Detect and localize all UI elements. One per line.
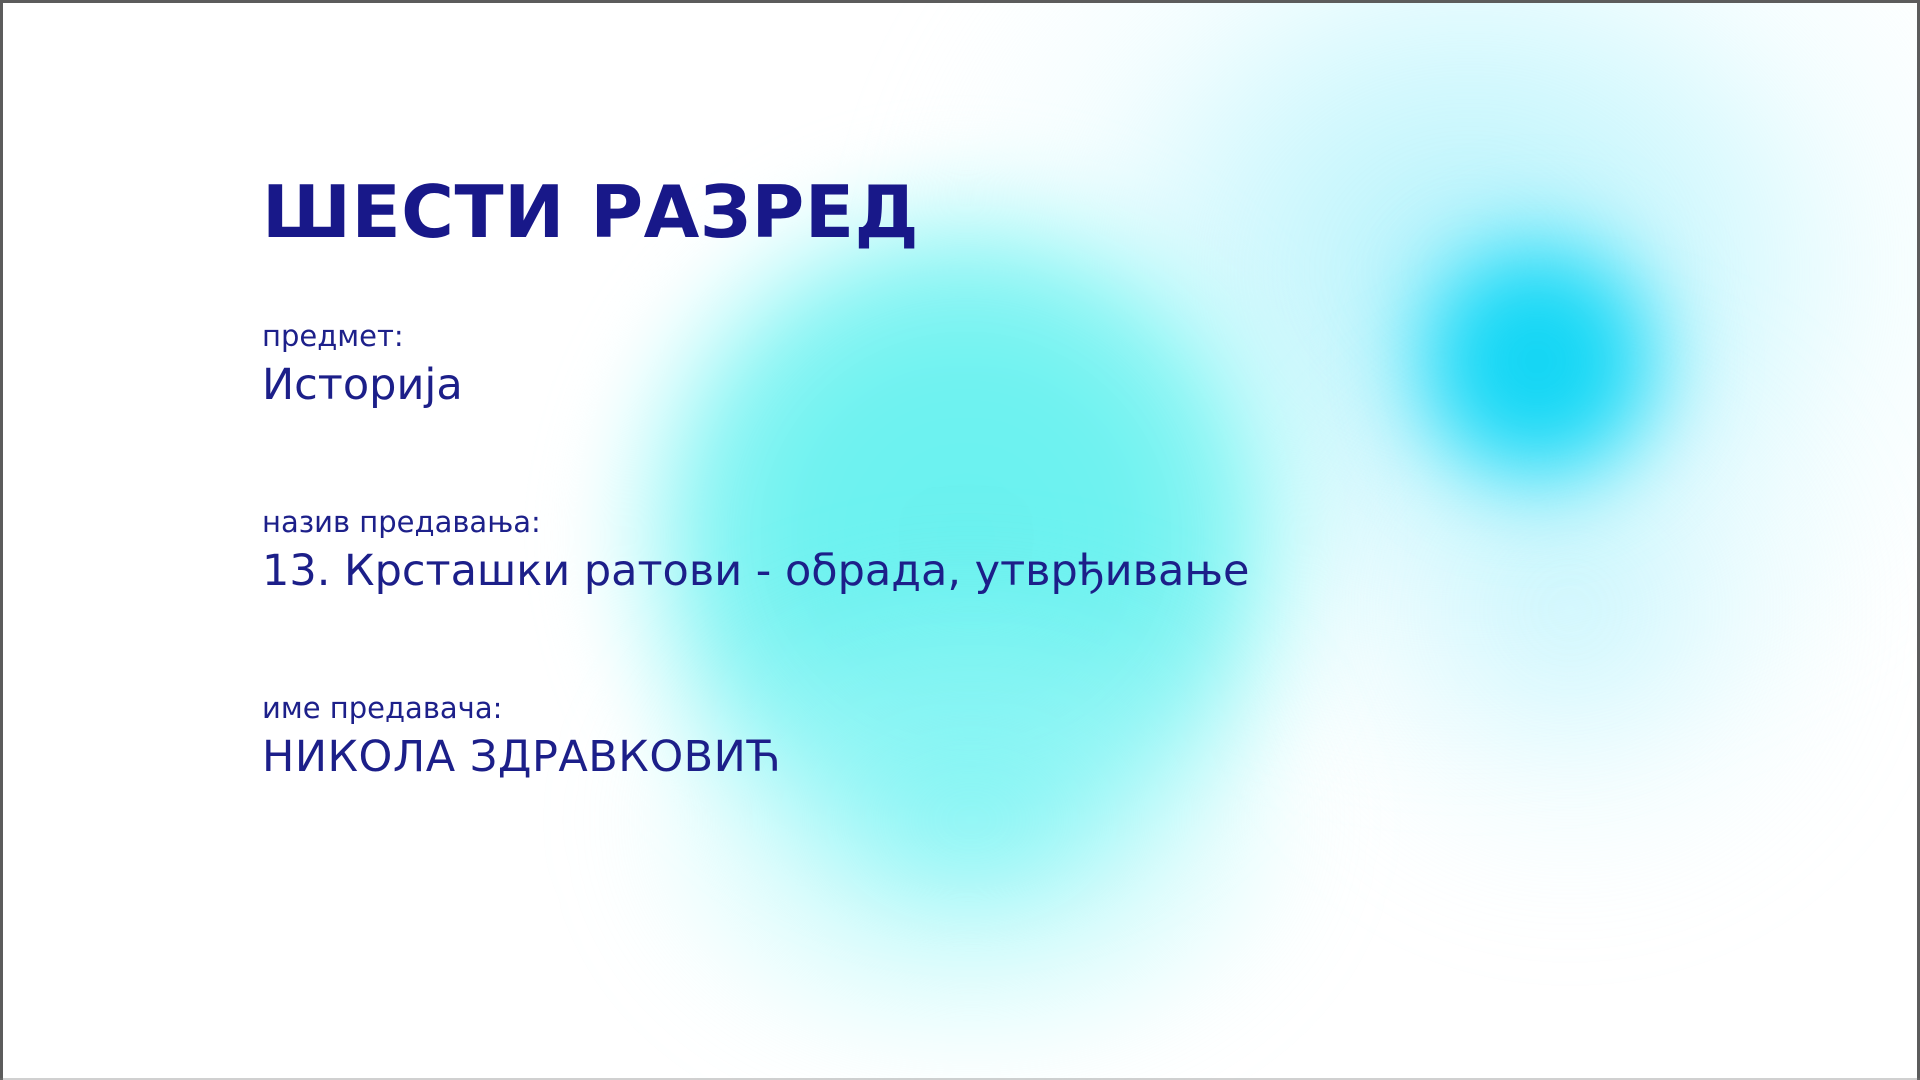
field-teacher-name: име предавача: НИКОЛА ЗДРАВКОВИЋ: [262, 690, 781, 783]
lecture-title-label: назив предавања:: [262, 504, 1249, 540]
field-lecture-title: назив предавања: 13. Крсташки ратови - о…: [262, 504, 1249, 597]
blob-lower-skirt: [612, 560, 1332, 1080]
field-subject: предмет: Историја: [262, 318, 463, 411]
teacher-name-label: име предавача:: [262, 690, 781, 726]
slide-frame: ШЕСТИ РАЗРЕД предмет: Историја назив пре…: [0, 0, 1920, 1080]
blob-accent-cyan: [1372, 196, 1702, 526]
page-title: ШЕСТИ РАЗРЕД: [262, 176, 919, 248]
lecture-title-value: 13. Крсташки ратови - обрада, утврђивање: [262, 546, 1249, 597]
subject-value: Историја: [262, 360, 463, 411]
teacher-name-value: НИКОЛА ЗДРАВКОВИЋ: [262, 732, 781, 783]
subject-label: предмет:: [262, 318, 463, 354]
